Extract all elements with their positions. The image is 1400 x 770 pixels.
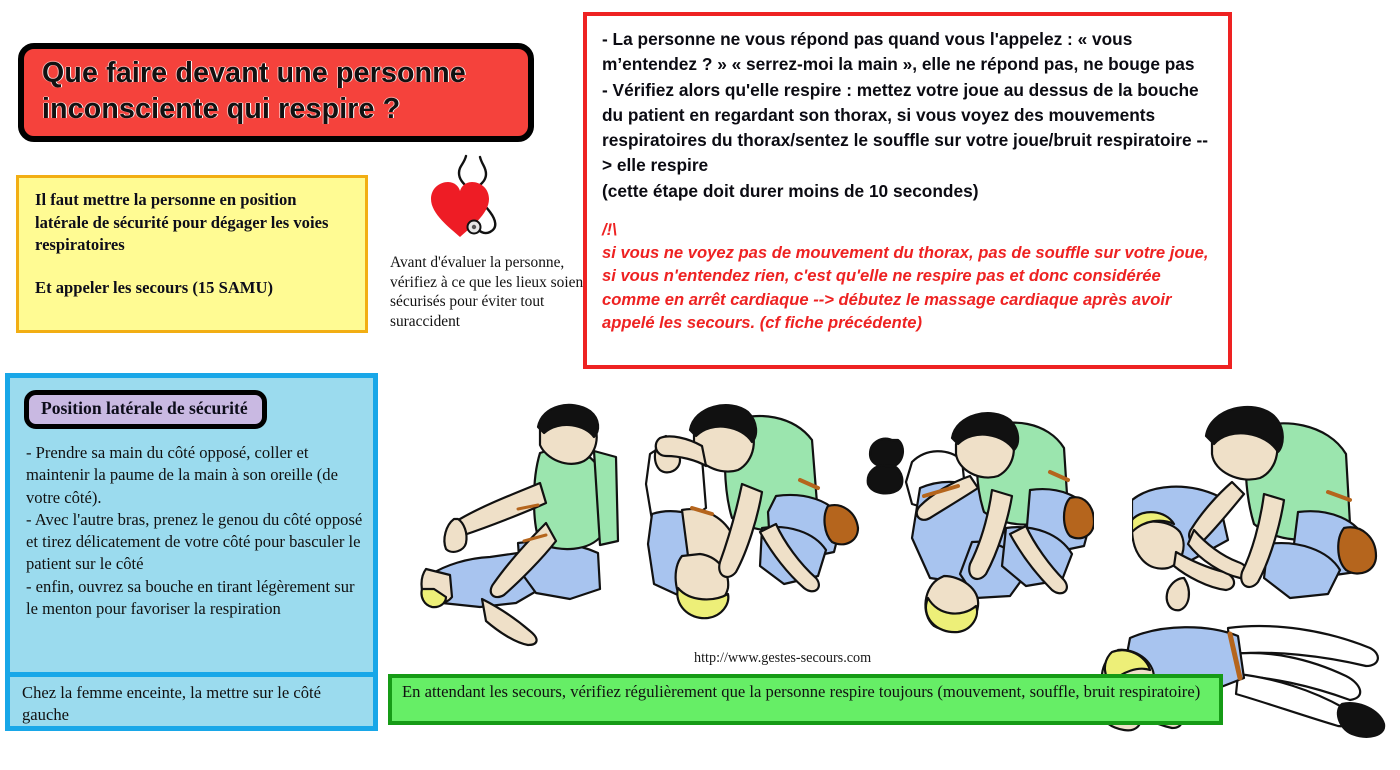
recovery-position-header: Position latérale de sécurité (24, 390, 267, 429)
step-4-rescuer-adjusts-patient-on-side (1132, 388, 1380, 628)
pregnant-woman-note: Chez la femme enceinte, la mettre sur le… (10, 677, 373, 731)
warning-mark-icon: /!\ (602, 220, 1216, 241)
infographic-canvas: Que faire devant une personne inconscien… (0, 0, 1400, 770)
warning-text: si vous ne voyez pas de mouvement du tho… (602, 241, 1216, 335)
assessment-red-panel: - La personne ne vous répond pas quand v… (583, 12, 1232, 369)
yellow-box-spacer (35, 257, 351, 277)
step-1-rescuer-positions-arm-and-knee (420, 393, 642, 651)
assessment-main-text: - La personne ne vous répond pas quand v… (602, 27, 1216, 204)
assessment-panel-spacer (602, 204, 1216, 220)
page-title-line-1: Que faire devant une personne (42, 55, 466, 91)
page-title-badge: Que faire devant une personne inconscien… (18, 43, 534, 142)
step-3-rescuer-rolls-patient-onto-side (862, 392, 1094, 642)
yellow-box-paragraph-2: Et appeler les secours (15 SAMU) (35, 277, 351, 300)
recovery-position-panel: Position latérale de sécurité - Prendre … (5, 373, 378, 731)
step-2-rescuer-holds-head-and-knee (636, 388, 864, 650)
monitoring-green-banner: En attendant les secours, vérifiez régul… (388, 674, 1223, 725)
heart-figure-caption: Avant d'évaluer la personne, vérifiez à … (390, 253, 588, 331)
recovery-position-steps: - Prendre sa main du côté opposé, coller… (24, 442, 363, 620)
yellow-instruction-box: Il faut mettre la personne en position l… (16, 175, 368, 333)
page-title: Que faire devant une personne inconscien… (42, 55, 466, 127)
monitoring-banner-text: En attendant les secours, vérifiez régul… (402, 681, 1211, 703)
page-title-line-2: inconsciente qui respire ? (42, 91, 466, 127)
recovery-position-upper-section: Position latérale de sécurité - Prendre … (10, 378, 373, 672)
source-url-watermark: http://www.gestes-secours.com (694, 650, 871, 667)
yellow-box-paragraph-1: Il faut mettre la personne en position l… (35, 189, 351, 257)
heart-with-stethoscope-icon (418, 152, 518, 252)
